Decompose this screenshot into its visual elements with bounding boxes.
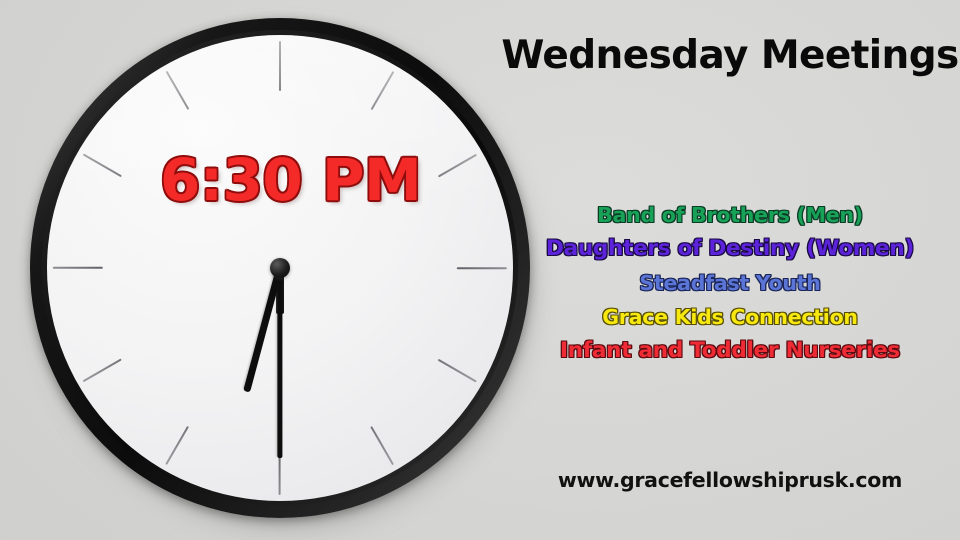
clock-rim	[30, 18, 530, 518]
clock-center-hub	[270, 258, 290, 278]
meeting-list-item-daughters-of-destiny: Daughters of Destiny (Women)	[500, 232, 960, 266]
meeting-time-label: 6:30 PM	[160, 146, 421, 214]
clock-minute-hand	[277, 268, 282, 458]
meeting-list-item-infant-toddler-nurseries: Infant and Toddler Nurseries	[500, 334, 960, 368]
clock-face	[47, 35, 513, 501]
poster-canvas: 6:30 PM Wednesday Meetings Band of Broth…	[0, 0, 960, 540]
meeting-list-item-grace-kids-connection: Grace Kids Connection	[500, 300, 960, 334]
meeting-list-item-band-of-brothers: Band of Brothers (Men)	[500, 198, 960, 232]
page-title: Wednesday Meetings	[500, 33, 960, 78]
meeting-list: Band of Brothers (Men) Daughters of Dest…	[500, 198, 960, 368]
meeting-list-item-steadfast-youth: Steadfast Youth	[500, 266, 960, 300]
info-column: Wednesday Meetings Band of Brothers (Men…	[500, 0, 960, 540]
website-url: www.gracefellowshiprusk.com	[500, 468, 960, 492]
wall-clock	[30, 18, 530, 518]
